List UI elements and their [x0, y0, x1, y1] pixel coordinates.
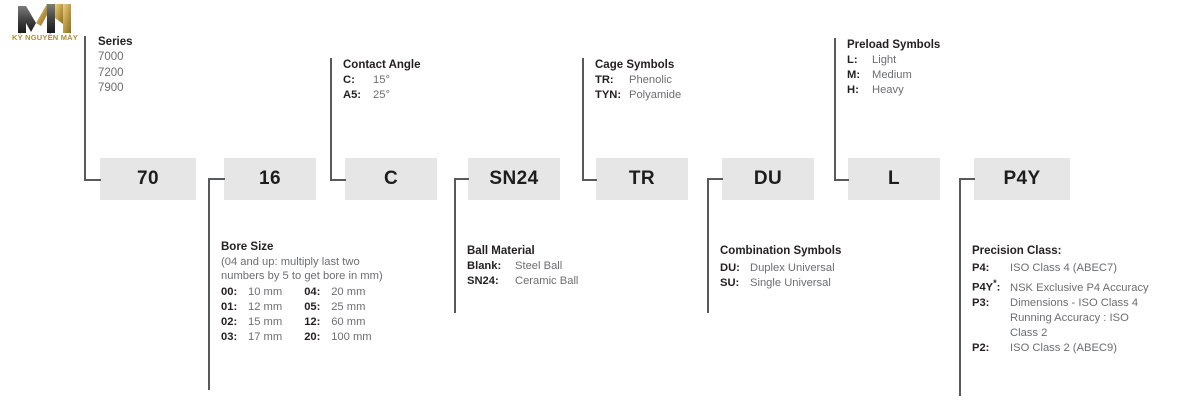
bore-key-20: 20: [304, 330, 331, 345]
group-ball-material: Ball Material Blank: Steel Ball SN24: Ce… [467, 245, 578, 289]
code-box-series[interactable]: 70 [100, 158, 196, 200]
connector-contact-angle-horizontal [330, 179, 346, 181]
group-bore-size-title: Bore Size [221, 241, 383, 253]
group-precision-class-title: Precision Class: [972, 245, 1194, 257]
group-contact-angle: Contact Angle C: 15° A5: 25° [343, 59, 421, 103]
bore-value-01: 12 mm [248, 300, 282, 315]
code-box-bore-value: 16 [259, 168, 281, 190]
list-item: P4Y*: NSK Exclusive P4 Accuracy [972, 276, 1194, 296]
list-item: P4: ISO Class 4 (ABEC7) [972, 261, 1194, 276]
code-box-preload[interactable]: L [848, 158, 940, 200]
cage-key-tyn: TYN: [595, 88, 629, 103]
connector-precision-vertical [959, 178, 961, 396]
preload-key-h: H: [847, 83, 872, 98]
group-series-title: Series [98, 36, 133, 48]
code-box-bore[interactable]: 16 [224, 158, 316, 200]
list-item: 12: 60 mm [304, 315, 371, 330]
bore-size-column-gap [282, 285, 304, 345]
bore-value-05: 25 mm [331, 300, 365, 315]
connector-bore-vertical [208, 178, 210, 390]
group-contact-angle-title: Contact Angle [343, 59, 421, 71]
cage-value-tyn: Polyamide [629, 88, 681, 103]
bore-value-04: 20 mm [331, 285, 365, 300]
series-value-7200: 7200 [98, 66, 133, 82]
list-item: DU: Duplex Universal [720, 261, 841, 276]
connector-cage-vertical [582, 58, 584, 181]
bore-value-20: 100 mm [331, 330, 371, 345]
precision-value-p2: ISO Class 2 (ABEC9) [1010, 341, 1117, 356]
code-box-ball-material[interactable]: SN24 [468, 158, 560, 200]
preload-key-m: M: [847, 68, 872, 83]
bore-size-note-line1: (04 and up: multiply last two [221, 255, 383, 269]
combination-value-su: Single Universal [750, 276, 831, 291]
connector-contact-angle-vertical [330, 58, 332, 181]
connector-series-vertical [84, 36, 86, 181]
connector-combination-horizontal [707, 178, 723, 180]
ball-key-sn24: SN24: [467, 274, 515, 289]
precision-key-p4: P4: [972, 261, 1010, 276]
part-number-nomenclature-diagram: KỶ NGUYÊN MÁY 70 16 C SN24 TR DU L P4Y [0, 0, 1200, 400]
connector-bore-horizontal [208, 178, 225, 180]
group-ball-material-title: Ball Material [467, 245, 578, 257]
list-item: H: Heavy [847, 83, 940, 98]
list-item: L: Light [847, 53, 940, 68]
contact-angle-value-c: 15° [373, 73, 390, 88]
list-item: 03: 17 mm [221, 330, 282, 345]
code-box-combination-value: DU [754, 168, 782, 190]
code-box-cage-value: TR [629, 168, 655, 190]
connector-series-horizontal [84, 179, 101, 181]
bore-key-02: 02: [221, 315, 248, 330]
bore-key-12: 12: [304, 315, 331, 330]
combination-key-su: SU: [720, 276, 750, 291]
code-box-combination[interactable]: DU [722, 158, 814, 200]
bore-key-05: 05: [304, 300, 331, 315]
group-cage-symbols-title: Cage Symbols [595, 59, 681, 71]
connector-preload-horizontal [834, 179, 849, 181]
code-box-cage[interactable]: TR [596, 158, 688, 200]
list-item: 20: 100 mm [304, 330, 371, 345]
preload-key-l: L: [847, 53, 872, 68]
bore-size-column-left: 00: 10 mm 01: 12 mm 02: 15 mm 03: 17 mm [221, 285, 282, 345]
code-box-series-value: 70 [137, 168, 159, 190]
ball-value-blank: Steel Ball [515, 259, 562, 274]
bore-key-01: 01: [221, 300, 248, 315]
list-item: TYN: Polyamide [595, 88, 681, 103]
list-item: 04: 20 mm [304, 285, 371, 300]
bore-value-03: 17 mm [248, 330, 282, 345]
logo-m-icon [16, 2, 74, 34]
precision-value-p3-line2: Running Accuracy : ISO [1010, 311, 1138, 326]
list-item: Blank: Steel Ball [467, 259, 578, 274]
combination-key-du: DU: [720, 261, 750, 276]
group-series: Series 7000 7200 7900 [98, 36, 133, 97]
precision-key-p4y-text: P4Y [972, 282, 993, 294]
list-item: 02: 15 mm [221, 315, 282, 330]
bore-value-00: 10 mm [248, 285, 282, 300]
group-combination-symbols-title: Combination Symbols [720, 245, 841, 257]
preload-value-l: Light [872, 53, 896, 68]
bore-size-column-right: 04: 20 mm 05: 25 mm 12: 60 mm 20: 100 mm [304, 285, 371, 345]
bore-key-04: 04: [304, 285, 331, 300]
group-bore-size: Bore Size (04 and up: multiply last two … [221, 241, 383, 345]
ball-key-blank: Blank: [467, 259, 515, 274]
precision-value-p4y: NSK Exclusive P4 Accuracy [1010, 281, 1149, 296]
bore-key-00: 00: [221, 285, 248, 300]
list-item: A5: 25° [343, 88, 421, 103]
connector-combination-vertical [707, 178, 709, 313]
group-precision-class: Precision Class: P4: ISO Class 4 (ABEC7)… [972, 245, 1194, 356]
logo: KỶ NGUYÊN MÁY [2, 2, 88, 46]
contact-angle-key-a5: A5: [343, 88, 373, 103]
list-item: P2: ISO Class 2 (ABEC9) [972, 341, 1194, 356]
code-box-precision[interactable]: P4Y [974, 158, 1070, 200]
list-item: P3: Dimensions - ISO Class 4 Running Acc… [972, 296, 1194, 341]
list-item: 05: 25 mm [304, 300, 371, 315]
connector-preload-vertical [834, 38, 836, 181]
group-preload-symbols-title: Preload Symbols [847, 39, 940, 51]
bore-value-12: 60 mm [331, 315, 365, 330]
connector-ball-horizontal [454, 178, 469, 180]
precision-value-p3-line1: Dimensions - ISO Class 4 [1010, 296, 1138, 311]
precision-value-p3-line3: Class 2 [1010, 326, 1138, 341]
list-item: SU: Single Universal [720, 276, 841, 291]
bore-key-03: 03: [221, 330, 248, 345]
cage-key-tr: TR: [595, 73, 629, 88]
contact-angle-key-c: C: [343, 73, 373, 88]
list-item: C: 15° [343, 73, 421, 88]
precision-key-p2: P2: [972, 341, 1010, 356]
series-value-7900: 7900 [98, 81, 133, 97]
list-item: SN24: Ceramic Ball [467, 274, 578, 289]
precision-key-p4y: P4Y*: [972, 276, 1010, 296]
code-box-preload-value: L [888, 168, 900, 190]
connector-ball-vertical [454, 178, 456, 313]
list-item: 01: 12 mm [221, 300, 282, 315]
list-item: 00: 10 mm [221, 285, 282, 300]
connector-precision-horizontal [959, 178, 975, 180]
bore-size-note-line2: numbers by 5 to get bore in mm) [221, 269, 383, 283]
code-box-contact-angle[interactable]: C [345, 158, 437, 200]
precision-key-p3: P3: [972, 296, 1010, 311]
list-item: M: Medium [847, 68, 940, 83]
precision-value-p4: ISO Class 4 (ABEC7) [1010, 261, 1117, 276]
preload-value-h: Heavy [872, 83, 904, 98]
group-combination-symbols: Combination Symbols DU: Duplex Universal… [720, 245, 841, 291]
connector-cage-horizontal [582, 179, 597, 181]
code-box-contact-angle-value: C [384, 168, 398, 190]
ball-value-sn24: Ceramic Ball [515, 274, 578, 289]
group-cage-symbols: Cage Symbols TR: Phenolic TYN: Polyamide [595, 59, 681, 103]
precision-key-p4y-colon: : [997, 282, 1001, 294]
combination-value-du: Duplex Universal [750, 261, 835, 276]
code-box-precision-value: P4Y [1003, 168, 1040, 190]
preload-value-m: Medium [872, 68, 912, 83]
code-box-ball-material-value: SN24 [489, 168, 538, 190]
cage-value-tr: Phenolic [629, 73, 672, 88]
series-value-7000: 7000 [98, 50, 133, 66]
group-preload-symbols: Preload Symbols L: Light M: Medium H: He… [847, 39, 940, 98]
list-item: TR: Phenolic [595, 73, 681, 88]
contact-angle-value-a5: 25° [373, 88, 390, 103]
logo-tagline: KỶ NGUYÊN MÁY [2, 33, 88, 42]
bore-value-02: 15 mm [248, 315, 282, 330]
